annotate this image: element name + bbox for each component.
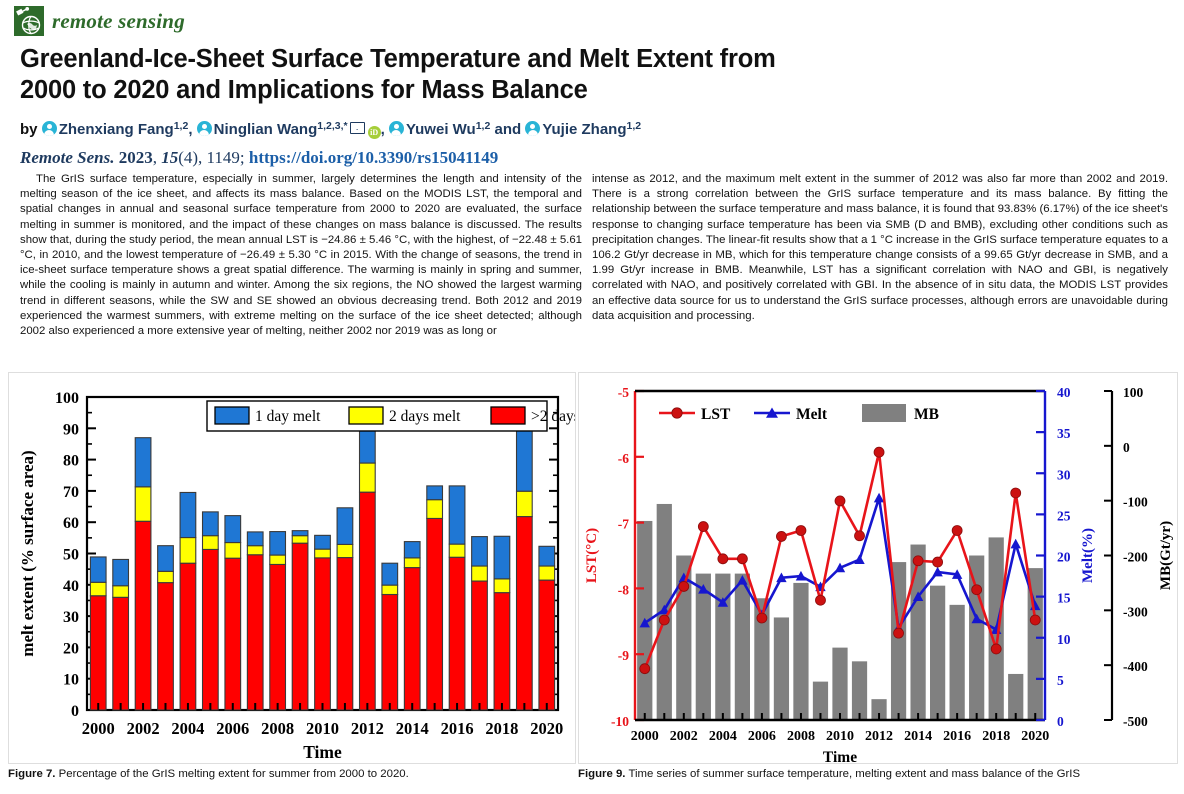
bar-segment bbox=[90, 557, 106, 582]
lst-marker bbox=[718, 554, 728, 564]
bar-segment bbox=[539, 546, 555, 566]
left-y-tick-label: -8 bbox=[618, 582, 629, 597]
mb-bar bbox=[852, 661, 867, 720]
y-tick-label: 0 bbox=[71, 703, 79, 720]
y-tick-label: 90 bbox=[63, 421, 79, 438]
bar-segment bbox=[449, 557, 465, 710]
legend-swatch-mb bbox=[862, 404, 906, 422]
y-tick-label: 60 bbox=[63, 515, 79, 532]
avatar-icon bbox=[197, 121, 212, 136]
y-tick-label: 20 bbox=[63, 640, 79, 657]
author-name-4[interactable]: Yujie Zhang bbox=[542, 121, 626, 138]
bar-segment bbox=[315, 549, 331, 558]
left-y-tick-label: -6 bbox=[618, 451, 629, 466]
title-line-1: Greenland-Ice-Sheet Surface Temperature … bbox=[20, 44, 1020, 75]
author-sep-3: and bbox=[490, 121, 521, 138]
bar-segment bbox=[247, 555, 263, 710]
bar-segment bbox=[292, 543, 308, 710]
bar-segment bbox=[449, 486, 465, 544]
x-tick-label: 2002 bbox=[127, 719, 160, 738]
x-tick-label: 2000 bbox=[82, 719, 115, 738]
orcid-icon[interactable]: iD bbox=[368, 126, 381, 139]
x-tick-label: 2020 bbox=[530, 719, 563, 738]
mb-y-tick-label: -100 bbox=[1123, 495, 1148, 510]
lst-marker bbox=[933, 557, 943, 567]
legend-label: MB bbox=[914, 406, 939, 423]
abstract-column-right: intense as 2012, and the maximum melt ex… bbox=[592, 172, 1168, 324]
y-tick-label: 30 bbox=[63, 609, 79, 626]
bar-segment bbox=[135, 521, 151, 710]
mb-bar bbox=[930, 586, 945, 720]
lst-marker bbox=[776, 531, 786, 541]
mb-bar bbox=[696, 574, 711, 720]
bar-segment bbox=[472, 566, 488, 581]
bar-segment bbox=[337, 558, 353, 710]
x-tick-label: 2014 bbox=[396, 719, 429, 738]
mb-bar bbox=[774, 617, 789, 720]
bar-segment bbox=[158, 583, 174, 710]
left-y-axis-title: LST(°C) bbox=[584, 528, 600, 583]
y-tick-label: 100 bbox=[55, 390, 79, 407]
figure-9-image: -10-9-8-7-6-5LST(°C)0510152025303540Melt… bbox=[578, 372, 1178, 764]
x-axis-title: Time bbox=[823, 749, 857, 763]
legend-label: LST bbox=[701, 406, 731, 423]
lst-marker bbox=[640, 664, 650, 674]
legend-swatch bbox=[349, 407, 383, 424]
lst-marker bbox=[679, 581, 689, 591]
x-tick-label: 2006 bbox=[216, 719, 249, 738]
legend: 1 day melt2 days melt>2 days melt bbox=[207, 401, 575, 431]
lst-marker bbox=[913, 556, 923, 566]
bar-segment bbox=[270, 532, 286, 555]
author-affil-3: 1,2 bbox=[476, 120, 491, 132]
bar-segment bbox=[292, 536, 308, 544]
avatar-icon bbox=[42, 121, 57, 136]
byline: by Zhenxiang Fang1,2, Ninglian Wang1,2,3… bbox=[20, 120, 1170, 139]
x-tick-label: 2016 bbox=[943, 729, 971, 744]
bar-segment bbox=[472, 537, 488, 566]
bar-segment bbox=[292, 531, 308, 536]
bar-segment bbox=[315, 558, 331, 710]
mb-y-tick-label: -500 bbox=[1123, 714, 1148, 729]
y-axis-title: melt extent (% surface area) bbox=[18, 450, 37, 656]
figure-9: -10-9-8-7-6-5LST(°C)0510152025303540Melt… bbox=[578, 372, 1178, 782]
mb-y-tick-label: 100 bbox=[1123, 385, 1144, 400]
bar-segment bbox=[203, 536, 219, 550]
author-affil-2: 1,2,3,* bbox=[317, 120, 347, 132]
citation-doi-link[interactable]: https://doi.org/10.3390/rs15041149 bbox=[249, 148, 498, 167]
melt-y-tick-label: 25 bbox=[1057, 508, 1071, 523]
citation-year: 2023 bbox=[119, 148, 153, 167]
mb-y-tick-label: 0 bbox=[1123, 440, 1130, 455]
author-sep-1: , bbox=[188, 121, 192, 138]
lst-marker bbox=[874, 447, 884, 457]
legend-label: >2 days melt bbox=[531, 408, 575, 425]
lst-marker bbox=[991, 644, 1001, 654]
bar-segment bbox=[539, 580, 555, 710]
bar-segment bbox=[382, 585, 398, 594]
lst-marker bbox=[972, 585, 982, 595]
article-page: remote sensing Greenland-Ice-Sheet Surfa… bbox=[0, 0, 1184, 794]
melt-y-tick-label: 0 bbox=[1057, 714, 1064, 729]
legend-swatch bbox=[215, 407, 249, 424]
lst-marker bbox=[815, 595, 825, 605]
legend-label: 2 days melt bbox=[389, 408, 461, 425]
bar-segment bbox=[180, 538, 196, 564]
mb-y-tick-label: -200 bbox=[1123, 550, 1148, 565]
mb-y-tick-label: -400 bbox=[1123, 659, 1148, 674]
bar-segment bbox=[158, 571, 174, 582]
melt-y-tick-label: 35 bbox=[1057, 426, 1071, 441]
by-label: by bbox=[20, 121, 38, 138]
x-tick-label: 2018 bbox=[982, 729, 1010, 744]
mb-bar bbox=[969, 556, 984, 721]
bar-segment bbox=[315, 535, 331, 549]
left-y-tick-label: -10 bbox=[611, 714, 629, 729]
melt-extent-bar-chart: 0102030405060708090100200020022004200620… bbox=[9, 373, 575, 763]
bar-segment bbox=[135, 438, 151, 487]
bar-segment bbox=[180, 492, 196, 537]
author-name-1[interactable]: Zhenxiang Fang bbox=[59, 121, 174, 138]
x-tick-label: 2006 bbox=[748, 729, 776, 744]
figure-7-image: 0102030405060708090100200020022004200620… bbox=[8, 372, 576, 764]
lst-marker bbox=[698, 522, 708, 532]
y-tick-label: 10 bbox=[63, 672, 79, 689]
author-affil-4: 1,2 bbox=[627, 120, 642, 132]
figure-9-caption-text: Time series of summer surface temperatur… bbox=[625, 768, 1080, 780]
bar-segment bbox=[225, 558, 241, 710]
bar-segment bbox=[90, 582, 106, 595]
bar-segment bbox=[472, 581, 488, 710]
x-axis-title: Time bbox=[303, 742, 342, 762]
bar-segment bbox=[449, 544, 465, 557]
bar-segment bbox=[225, 516, 241, 543]
citation-issue: (4) bbox=[178, 148, 198, 167]
journal-title: remote sensing bbox=[52, 9, 185, 34]
right-y-axis-title-melt: Melt(%) bbox=[1080, 528, 1096, 583]
author-affil-1: 1,2 bbox=[174, 120, 189, 132]
bar-segment bbox=[247, 546, 263, 555]
bar-segment bbox=[337, 544, 353, 557]
x-tick-label: 2016 bbox=[441, 719, 474, 738]
lst-marker bbox=[659, 615, 669, 625]
author-name-3[interactable]: Yuwei Wu bbox=[406, 121, 476, 138]
figure-9-caption: Figure 9. Time series of summer surface … bbox=[578, 767, 1178, 782]
bar-segment bbox=[225, 543, 241, 559]
x-tick-label: 2000 bbox=[631, 729, 659, 744]
y-tick-label: 50 bbox=[63, 547, 79, 564]
x-tick-label: 2004 bbox=[171, 719, 204, 738]
citation-journal: Remote Sens. bbox=[20, 148, 114, 167]
mb-bar bbox=[950, 605, 965, 720]
legend: LSTMeltMB bbox=[659, 404, 939, 423]
figure-7-caption-label: Figure 7. bbox=[8, 768, 55, 780]
melt-y-tick-label: 10 bbox=[1057, 632, 1071, 647]
melt-y-tick-label: 40 bbox=[1057, 385, 1071, 400]
y-tick-label: 80 bbox=[63, 453, 79, 470]
x-tick-label: 2012 bbox=[351, 719, 384, 738]
lst-marker bbox=[757, 613, 767, 623]
bar-segment bbox=[247, 532, 263, 546]
citation-volume: 15 bbox=[161, 148, 178, 167]
mb-y-tick-label: -300 bbox=[1123, 604, 1148, 619]
bar-segment bbox=[494, 593, 510, 710]
lst-marker bbox=[952, 525, 962, 535]
bar-segment bbox=[135, 487, 151, 521]
lst-marker bbox=[737, 554, 747, 564]
bar-segment bbox=[427, 518, 443, 710]
bar-segment bbox=[382, 563, 398, 585]
melt-y-tick-label: 30 bbox=[1057, 467, 1071, 482]
lst-marker bbox=[1011, 488, 1021, 498]
x-tick-label: 2018 bbox=[485, 719, 518, 738]
avatar-icon bbox=[389, 121, 404, 136]
bar-segment bbox=[494, 536, 510, 579]
citation-line: Remote Sens. 2023, 15(4), 1149; https://… bbox=[20, 148, 498, 168]
x-tick-label: 2020 bbox=[1021, 729, 1049, 744]
x-tick-label: 2010 bbox=[826, 729, 854, 744]
mb-bar bbox=[910, 545, 925, 720]
bar-segment bbox=[539, 566, 555, 580]
bar-segment bbox=[517, 491, 533, 516]
bar-segment bbox=[404, 542, 420, 558]
page-title: Greenland-Ice-Sheet Surface Temperature … bbox=[20, 44, 1020, 106]
bar-segment bbox=[517, 517, 533, 710]
y-tick-label: 40 bbox=[63, 578, 79, 595]
figure-7-caption-text: Percentage of the GrIS melting extent fo… bbox=[55, 768, 408, 780]
x-tick-label: 2004 bbox=[709, 729, 737, 744]
bar-segment bbox=[427, 500, 443, 519]
melt-y-tick-label: 5 bbox=[1057, 673, 1064, 688]
bar-segment bbox=[113, 597, 129, 710]
bar-segment bbox=[427, 486, 443, 500]
lst-marker bbox=[796, 525, 806, 535]
bar-segment bbox=[90, 596, 106, 710]
melt-y-tick-label: 15 bbox=[1057, 591, 1071, 606]
title-line-2: 2000 to 2020 and Implications for Mass B… bbox=[20, 75, 1020, 106]
left-y-tick-label: -5 bbox=[618, 385, 629, 400]
bar-segment bbox=[360, 463, 376, 492]
x-tick-label: 2012 bbox=[865, 729, 893, 744]
right-y-axis-title-mb: MB(Gt/yr) bbox=[1158, 521, 1174, 590]
bar-segment bbox=[382, 595, 398, 710]
lst-marker bbox=[835, 496, 845, 506]
lst-marker bbox=[855, 531, 865, 541]
abstract-column-left: The GrIS surface temperature, especially… bbox=[20, 172, 582, 339]
bar-segment bbox=[494, 579, 510, 593]
avatar-icon bbox=[525, 121, 540, 136]
journal-header: remote sensing bbox=[14, 6, 185, 36]
author-sep-2: , bbox=[381, 121, 385, 138]
bar-segment bbox=[203, 512, 219, 536]
bar-segment bbox=[180, 563, 196, 710]
figure-9-caption-label: Figure 9. bbox=[578, 768, 625, 780]
bar-segment bbox=[270, 564, 286, 710]
mb-bar bbox=[793, 583, 808, 720]
x-tick-label: 2014 bbox=[904, 729, 932, 744]
legend-marker-lst bbox=[672, 408, 682, 418]
mb-bar bbox=[832, 648, 847, 720]
mb-bar bbox=[735, 574, 750, 720]
author-name-2[interactable]: Ninglian Wang bbox=[214, 121, 318, 138]
bar-segment bbox=[270, 555, 286, 564]
x-tick-label: 2008 bbox=[261, 719, 294, 738]
x-tick-label: 2008 bbox=[787, 729, 815, 744]
legend-swatch bbox=[491, 407, 525, 424]
bar-segment bbox=[113, 559, 129, 585]
melt-y-tick-label: 20 bbox=[1057, 550, 1071, 565]
bar-segment bbox=[113, 586, 129, 598]
lst-marker bbox=[894, 628, 904, 638]
x-tick-label: 2010 bbox=[306, 719, 339, 738]
bar-segment bbox=[203, 549, 219, 710]
figure-7: 0102030405060708090100200020022004200620… bbox=[8, 372, 576, 782]
bar-segment bbox=[360, 492, 376, 710]
y-tick-label: 70 bbox=[63, 484, 79, 501]
lst-marker bbox=[1030, 615, 1040, 625]
bar-segment bbox=[337, 508, 353, 545]
left-y-tick-label: -9 bbox=[618, 648, 629, 663]
left-y-tick-label: -7 bbox=[618, 517, 629, 532]
bar-segment bbox=[360, 429, 376, 463]
envelope-icon[interactable] bbox=[350, 122, 365, 134]
figure-7-caption: Figure 7. Percentage of the GrIS melting… bbox=[8, 767, 576, 782]
citation-pages: 1149; bbox=[207, 148, 245, 167]
bar-segment bbox=[517, 429, 533, 491]
legend-label: 1 day melt bbox=[255, 408, 321, 425]
satellite-globe-icon bbox=[14, 6, 44, 36]
bar-segment bbox=[404, 568, 420, 710]
legend-label: Melt bbox=[796, 406, 828, 423]
bar-segment bbox=[158, 546, 174, 572]
bar-segment bbox=[404, 558, 420, 568]
x-tick-label: 2002 bbox=[670, 729, 698, 744]
lst-melt-mb-chart: -10-9-8-7-6-5LST(°C)0510152025303540Melt… bbox=[579, 373, 1177, 763]
